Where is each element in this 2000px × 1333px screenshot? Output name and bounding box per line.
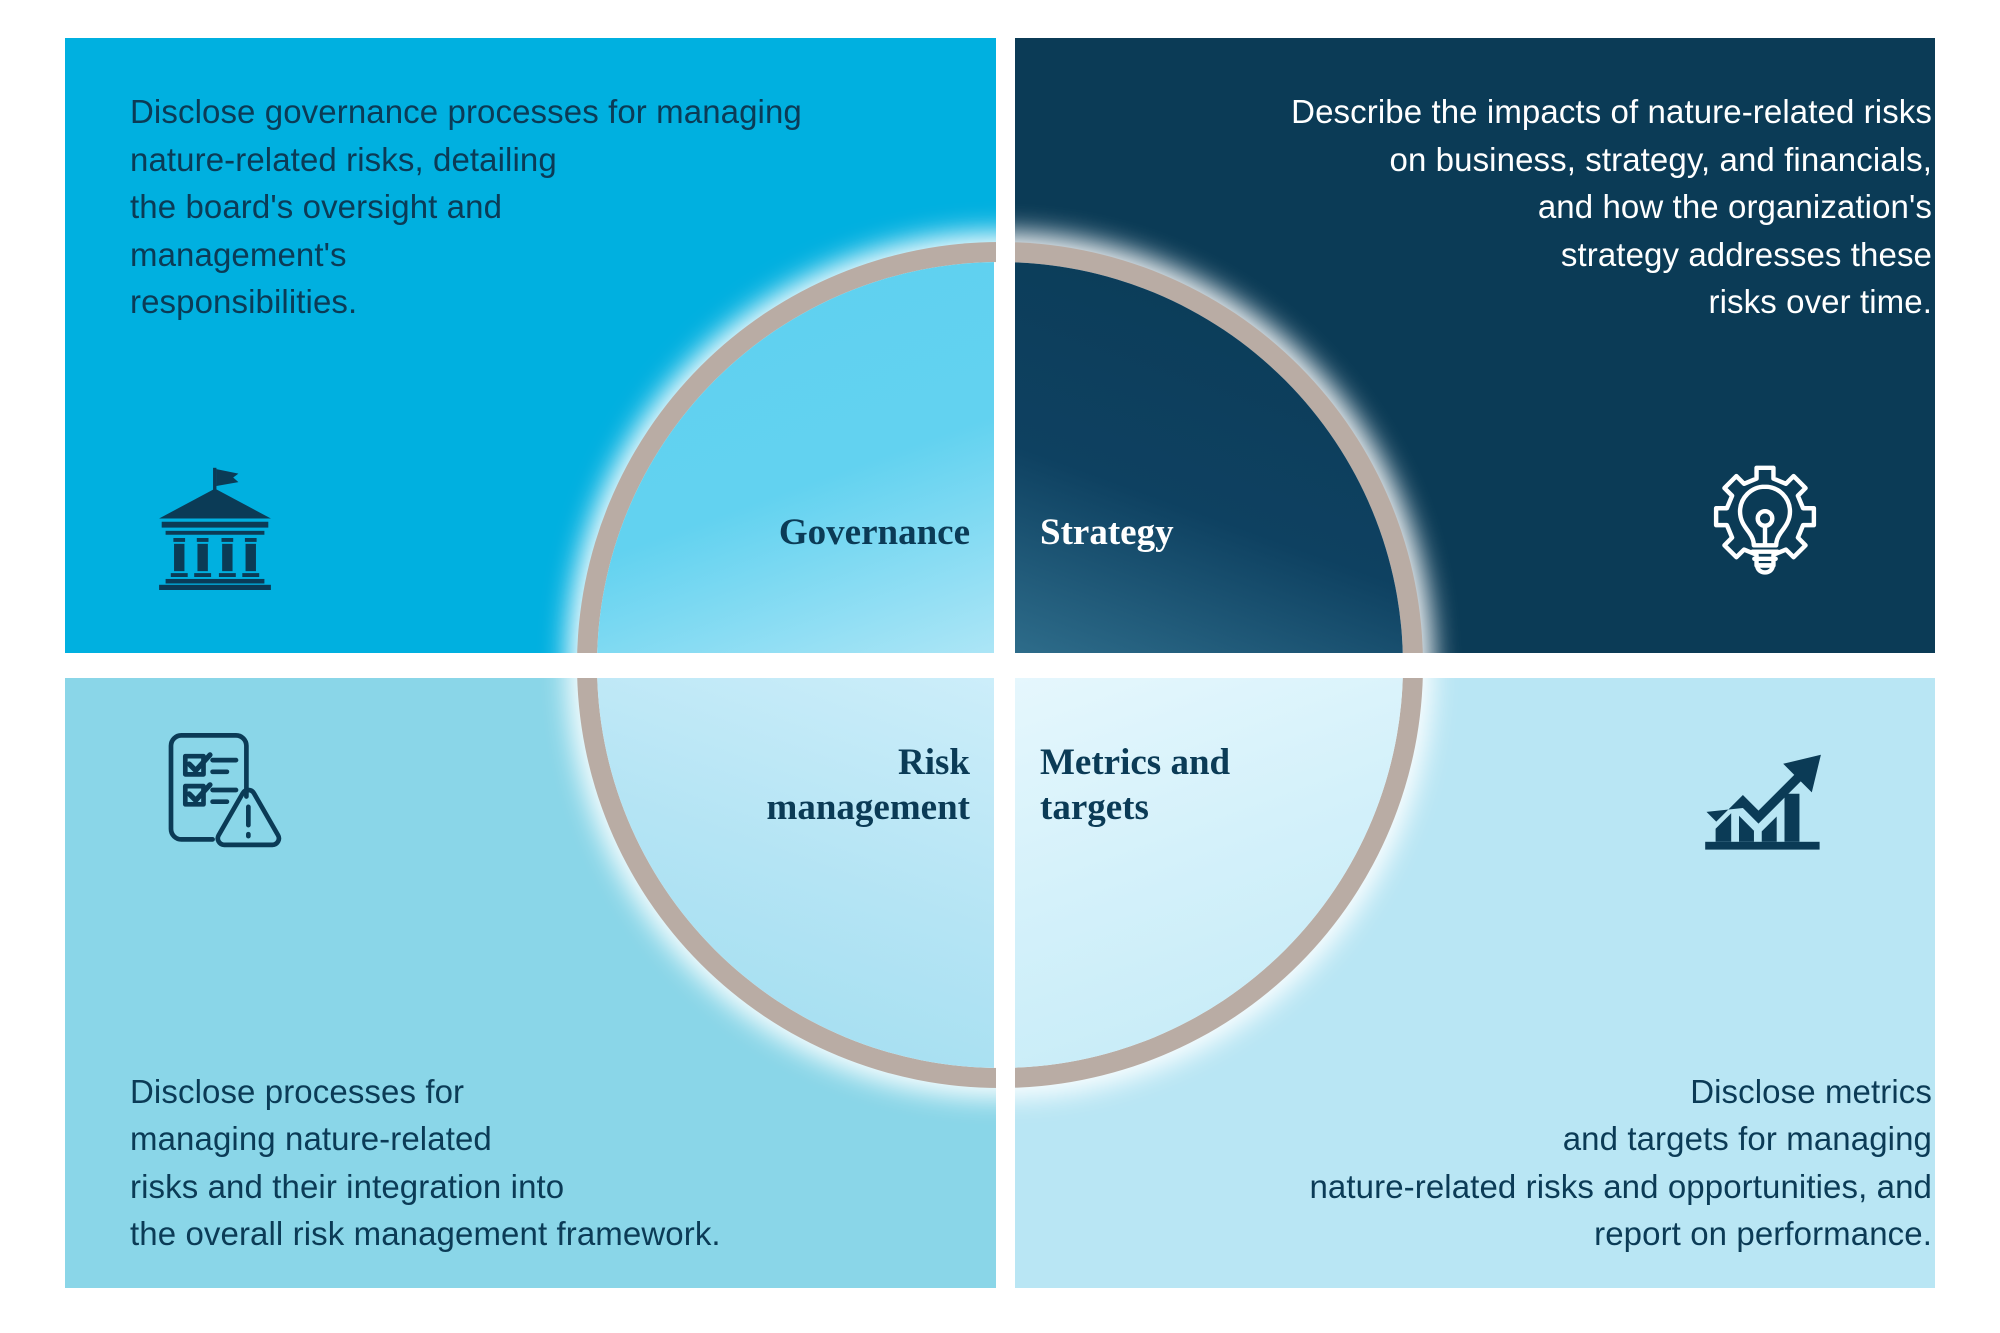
growth-chart-icon [1700, 730, 1830, 860]
circle-label-governance: Governance [640, 510, 970, 555]
government-building-icon [150, 460, 280, 590]
quadrant-text-risk-management: Disclose processes for managing nature-r… [130, 1068, 960, 1258]
checklist-warning-icon [158, 725, 288, 855]
diagram-canvas: Governance Strategy Risk management Metr… [0, 0, 2000, 1333]
circle-label-metrics-and-targets: Metrics and targets [1040, 740, 1370, 830]
horizontal-divider [55, 653, 1950, 678]
quadrant-text-metrics-and-targets: Disclose metrics and targets for managin… [1102, 1068, 1932, 1258]
quadrant-text-strategy: Describe the impacts of nature-related r… [1102, 88, 1932, 326]
circle-label-risk-management: Risk management [620, 740, 970, 830]
quadrant-text-governance: Disclose governance processes for managi… [130, 88, 960, 326]
circle-label-strategy: Strategy [1040, 510, 1370, 555]
lightbulb-gear-icon [1700, 460, 1830, 590]
